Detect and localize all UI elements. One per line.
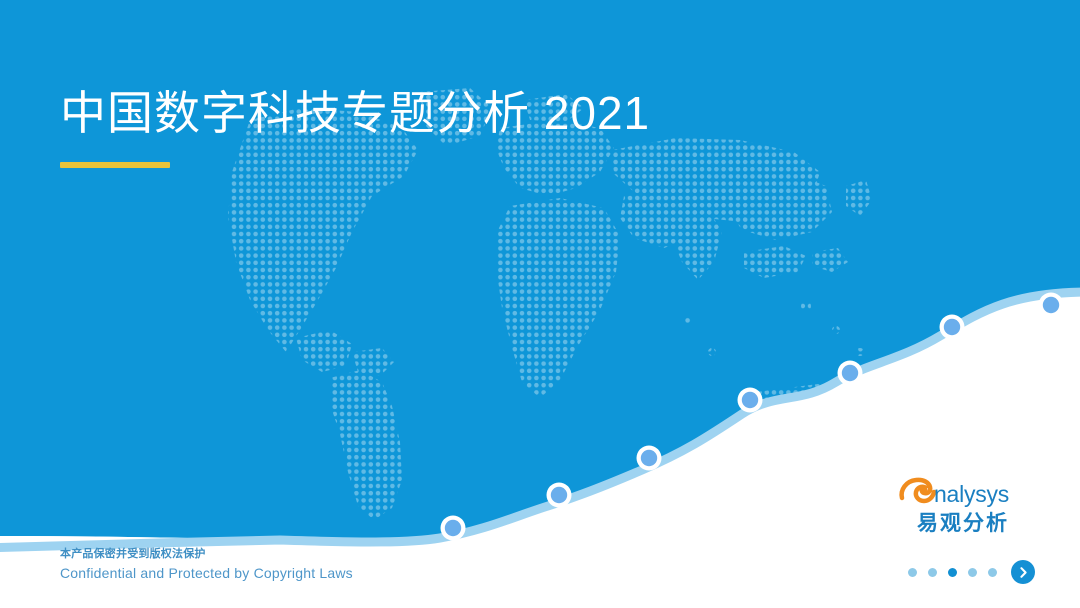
next-slide-button[interactable] [1011, 560, 1035, 584]
pagination-dot-1[interactable] [908, 568, 917, 577]
copyright-notice-en: Confidential and Protected by Copyright … [60, 563, 540, 583]
pagination-dot-2[interactable] [928, 568, 937, 577]
pagination-dot-5[interactable] [988, 568, 997, 577]
chart-marker-2 [551, 487, 567, 503]
chart-marker-5 [842, 365, 858, 381]
chart-marker-7 [1043, 297, 1059, 313]
title-block: 中国数字科技专题分析 2021 [60, 82, 920, 168]
copyright-notice: 本产品保密并受到版权法保护 Confidential and Protected… [60, 546, 540, 583]
analysys-wordmark-icon: nalysys [898, 476, 1024, 510]
title-slide: 中国数字科技专题分析 2021 本产品保密并受到版权法保护 Confidenti… [0, 0, 1080, 608]
pagination-dot-3[interactable] [948, 568, 957, 577]
copyright-notice-cn: 本产品保密并受到版权法保护 [60, 546, 540, 563]
pagination-control[interactable] [908, 560, 1035, 584]
svg-text:nalysys: nalysys [934, 481, 1009, 507]
chart-marker-6 [944, 319, 960, 335]
chart-marker-4 [742, 392, 758, 408]
page-title: 中国数字科技专题分析 2021 [60, 82, 920, 144]
brand-name-cn: 易观分析 [898, 511, 1028, 537]
chart-marker-3 [641, 450, 657, 466]
title-accent-bar [60, 162, 170, 168]
pagination-dot-4[interactable] [968, 568, 977, 577]
chevron-right-icon [1017, 566, 1030, 579]
chart-marker-1 [445, 520, 461, 536]
brand-logo: nalysys 易观分析 [898, 476, 1028, 537]
